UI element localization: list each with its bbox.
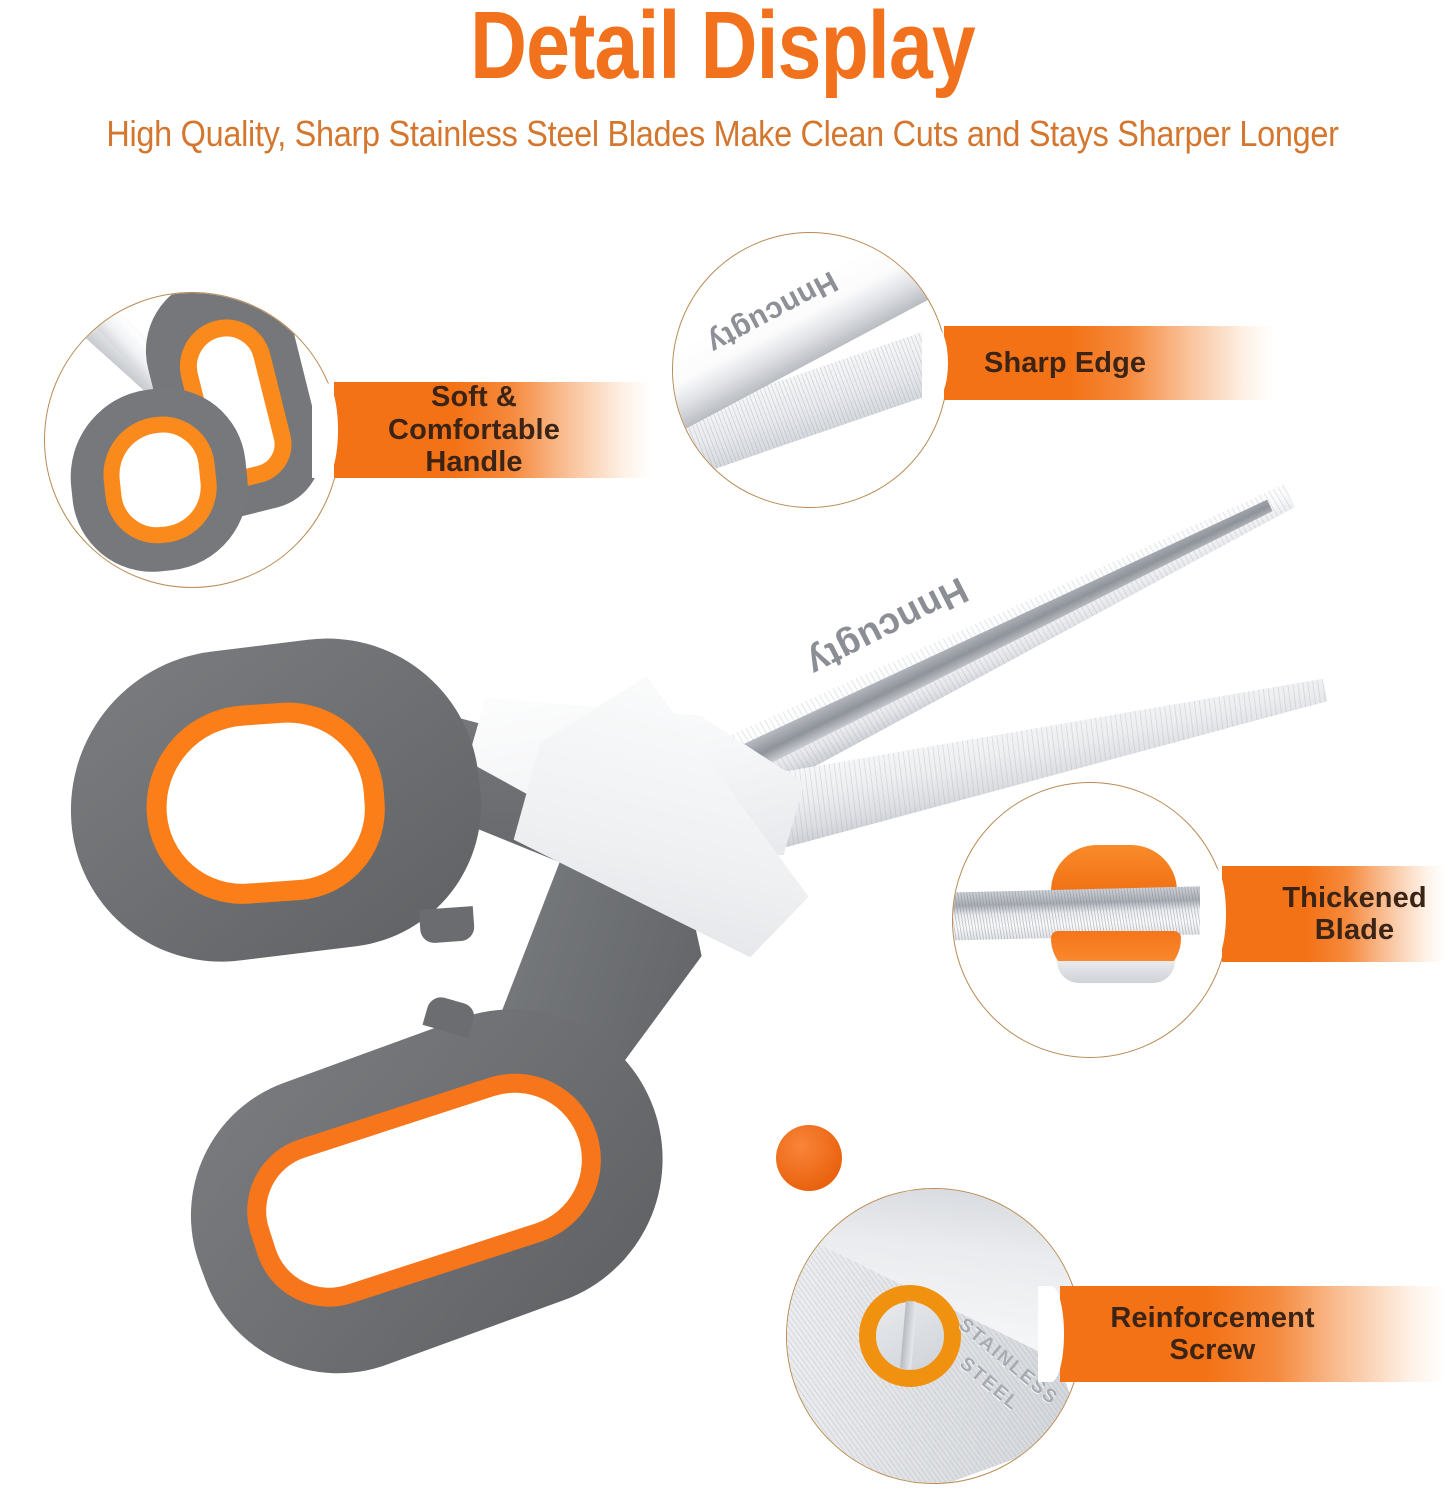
callout-label-reinforcement-screw: Reinforcement Screw bbox=[1060, 1302, 1445, 1367]
pivot-screw-cap bbox=[776, 1125, 842, 1191]
banner-notch bbox=[312, 382, 338, 478]
inset-thick-screw-cap-sheen bbox=[1057, 961, 1175, 983]
callout-banner-sharp-edge: Sharp Edge bbox=[944, 326, 1274, 400]
callout-banner-thickened-blade: Thickened Blade bbox=[1222, 866, 1445, 962]
inset-image-thickened-blade bbox=[953, 783, 1227, 1057]
banner-notch bbox=[922, 326, 948, 400]
inset-image-reinforcement-screw: STAINLESS STEEL bbox=[787, 1189, 1081, 1483]
callout-label-soft-comfortable-handle: Soft & Comfortable Handle bbox=[334, 381, 652, 478]
page-title: Detail Display bbox=[130, 0, 1315, 96]
upper-handle-tab bbox=[419, 906, 475, 944]
upper-handle-orange-ring bbox=[140, 696, 391, 910]
inset-image-sharp-edge: Hnncugty bbox=[673, 233, 947, 507]
callout-inset-thickened-blade bbox=[952, 782, 1228, 1058]
header: Detail Display High Quality, Sharp Stain… bbox=[0, 0, 1445, 175]
page-subtitle: High Quality, Sharp Stainless Steel Blad… bbox=[72, 113, 1373, 155]
callout-banner-reinforcement-screw: Reinforcement Screw bbox=[1060, 1286, 1445, 1382]
inset-image-handle bbox=[45, 293, 339, 587]
callout-banner-soft-comfortable-handle: Soft & Comfortable Handle bbox=[334, 382, 652, 478]
callout-label-sharp-edge: Sharp Edge bbox=[944, 347, 1146, 379]
banner-notch bbox=[1038, 1286, 1064, 1382]
lower-handle-orange-ring bbox=[228, 1051, 624, 1326]
banner-notch bbox=[1200, 866, 1226, 962]
callout-label-thickened-blade: Thickened Blade bbox=[1222, 882, 1445, 947]
callout-inset-sharp-edge: Hnncugty bbox=[672, 232, 948, 508]
infographic-canvas: Detail Display High Quality, Sharp Stain… bbox=[0, 0, 1445, 1499]
inset-handle-ring-lower bbox=[98, 411, 223, 548]
callout-inset-soft-comfortable-handle bbox=[44, 292, 340, 588]
